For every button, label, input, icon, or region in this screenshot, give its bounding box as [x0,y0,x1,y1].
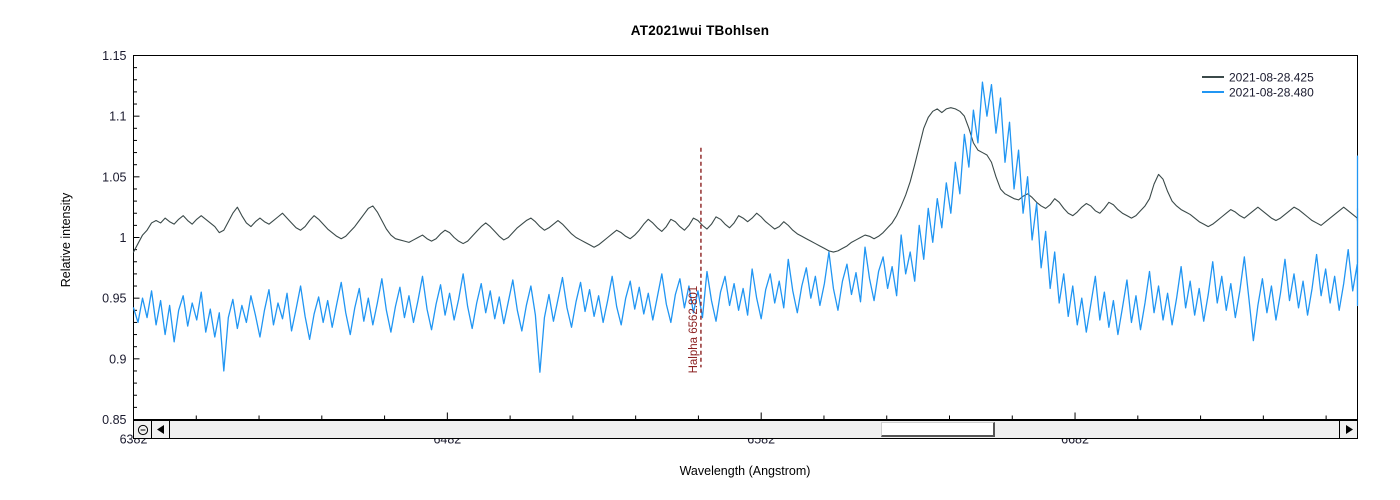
halpha-label: Halpha 6562.801 [688,286,700,374]
legend-label: 2021-08-28.425 [1229,71,1314,85]
legend-label: 2021-08-28.480 [1229,86,1314,100]
scroll-left-button[interactable] [152,421,170,438]
circle-minus-icon [137,424,149,436]
zoom-out-button[interactable] [134,421,152,438]
svg-text:1.1: 1.1 [109,110,126,124]
svg-text:0.95: 0.95 [102,292,126,306]
halpha-annotation: Halpha 6562.801 [688,148,701,374]
scrollbar-thumb[interactable] [881,422,995,437]
y-axis-title: Relative intensity [59,192,73,287]
svg-text:1: 1 [120,231,127,245]
svg-text:1.15: 1.15 [102,49,126,63]
scrollbar-track[interactable] [170,421,1339,438]
svg-text:0.85: 0.85 [102,413,126,427]
plot-frame [134,56,1358,420]
scroll-right-button[interactable] [1339,421,1357,438]
series-layer [134,82,1358,372]
horizontal-scrollbar[interactable] [133,420,1358,439]
chart-legend: 2021-08-28.4252021-08-28.480 [1202,71,1314,100]
svg-text:0.9: 0.9 [109,352,126,366]
spectrum-plot-app: AT2021wui TBohlsen 0.850.90.9511.051.11.… [0,0,1400,500]
svg-text:1.05: 1.05 [102,170,126,184]
triangle-right-icon [1345,425,1353,434]
triangle-left-icon [157,425,165,434]
x-axis-title: Wavelength (Angstrom) [680,464,811,478]
